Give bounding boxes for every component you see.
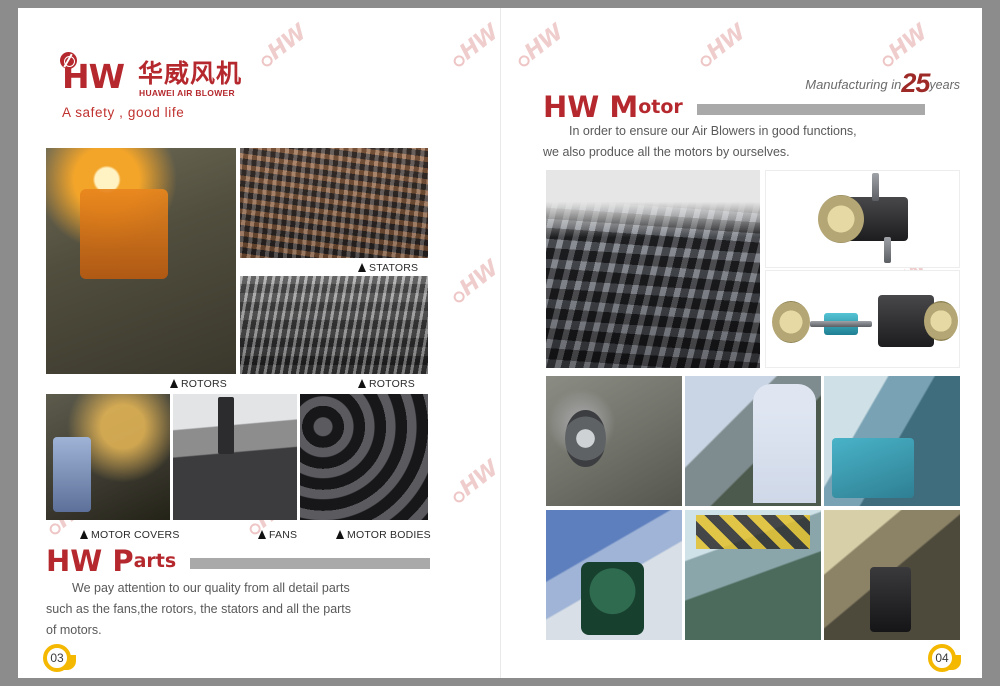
logo-chinese-block: 华威风机 HUAWEI AIR BLOWER [132, 60, 242, 98]
motor-bracket-shape [872, 173, 879, 201]
triangle-bullet-icon [358, 379, 366, 388]
caption-fans: FANS [258, 529, 297, 541]
worker-rotor-inspection-photo [685, 376, 821, 506]
logo-chinese-name: 华威风机 [138, 60, 242, 87]
fans-drilling-photo [173, 394, 297, 520]
motor-bracket-shape [884, 237, 891, 263]
logo-row: HW 华威风机 HUAWEI AIR BLOWER [62, 60, 242, 98]
hw-parts-body-line-2: such as the fans,the rotors, the stators… [46, 602, 351, 616]
motor-endplate-shape [772, 301, 810, 343]
logo-mark: HW [62, 60, 132, 94]
logo-tagline: A safety , good life [62, 105, 242, 120]
hw-parts-body-text: We pay attention to our quality from all… [46, 578, 426, 641]
watermark-hw: HW [693, 20, 750, 72]
hw-motor-body-text: In order to ensure our Air Blowers in go… [543, 121, 943, 163]
worker-stator-assembly-photo [546, 510, 682, 640]
hw-motor-heading: HW M otor [543, 92, 925, 122]
page-number-right: 04 [928, 644, 956, 672]
exploded-motor-parts-photo [765, 270, 960, 368]
triangle-bullet-icon [358, 263, 366, 272]
hw-parts-body-line-1: We pay attention to our quality from all… [46, 578, 426, 599]
page-number-badge-right: 04 [928, 644, 962, 674]
hw-motor-heading-small: otor [638, 92, 683, 122]
hw-motor-body-line-2: we also produce all the motors by oursel… [543, 145, 790, 159]
left-page: HW HW HW HW HW HW HW HW 华威风机 HUAWEI AIR … [18, 8, 500, 678]
hw-parts-heading-small: arts [134, 546, 177, 576]
hw-parts-body-line-3: of motors. [46, 623, 102, 637]
watermark-hw: HW [446, 456, 503, 508]
heading-rule-bar [190, 558, 430, 569]
flower-mark-icon [60, 52, 77, 69]
motor-assembly-field-photo [546, 170, 760, 368]
right-page: HW HW HW HW Manufacturing in25years HW M… [501, 8, 982, 678]
company-logo: HW 华威风机 HUAWEI AIR BLOWER A safety , goo… [62, 60, 242, 120]
rotor-shaft-shape [810, 321, 872, 327]
logo-english-name: HUAWEI AIR BLOWER [139, 88, 242, 98]
lathe-rotor-machining-photo [46, 148, 236, 374]
motor-covers-machining-photo [46, 394, 170, 520]
caption-motor-covers: MOTOR COVERS [80, 529, 180, 541]
stators-stack-photo [240, 148, 428, 258]
assembled-motor-product-photo [765, 170, 960, 268]
caption-motor-bodies: MOTOR BODIES [336, 529, 431, 541]
page-number-left: 03 [43, 644, 71, 672]
motor-bodies-photo [300, 394, 428, 520]
triangle-bullet-icon [258, 530, 266, 539]
watermark-hw: HW [446, 256, 503, 308]
hw-parts-heading: HW P arts [46, 546, 430, 576]
manufacturing-suffix: years [929, 78, 960, 92]
brochure-spread: HW HW HW HW HW HW HW HW 华威风机 HUAWEI AIR … [18, 8, 982, 678]
heading-rule-bar [697, 104, 925, 115]
rotor-shafts-array-photo [240, 276, 428, 374]
worker-press-machine-photo [685, 510, 821, 640]
watermark-hw: HW [446, 20, 503, 72]
motor-endplate-shape [924, 301, 958, 341]
triangle-bullet-icon [80, 530, 88, 539]
manufacturing-prefix: Manufacturing in [805, 77, 901, 92]
motor-endplate-shape [818, 195, 864, 243]
caption-rotors-left: ROTORS [170, 378, 227, 390]
watermark-hw: HW [511, 20, 568, 72]
caption-stators: STATORS [358, 262, 418, 274]
hw-motor-heading-big: HW M [543, 92, 638, 122]
hw-parts-heading-big: HW P [46, 546, 134, 576]
page-number-badge-left: 03 [43, 644, 77, 674]
triangle-bullet-icon [336, 530, 344, 539]
hw-motor-body-line-1: In order to ensure our Air Blowers in go… [543, 121, 943, 142]
watermark-hw: HW [254, 20, 311, 72]
rotor-stator-bench-photo [546, 376, 682, 506]
page-gutter-line [500, 8, 501, 678]
worker-motor-pressing-photo [824, 510, 960, 640]
caption-rotors-right: ROTORS [358, 378, 415, 390]
watermark-hw: HW [875, 20, 932, 72]
triangle-bullet-icon [170, 379, 178, 388]
brochure-spread-viewer: HW HW HW HW HW HW HW HW 华威风机 HUAWEI AIR … [0, 0, 1000, 686]
worker-stator-winding-photo [824, 376, 960, 506]
